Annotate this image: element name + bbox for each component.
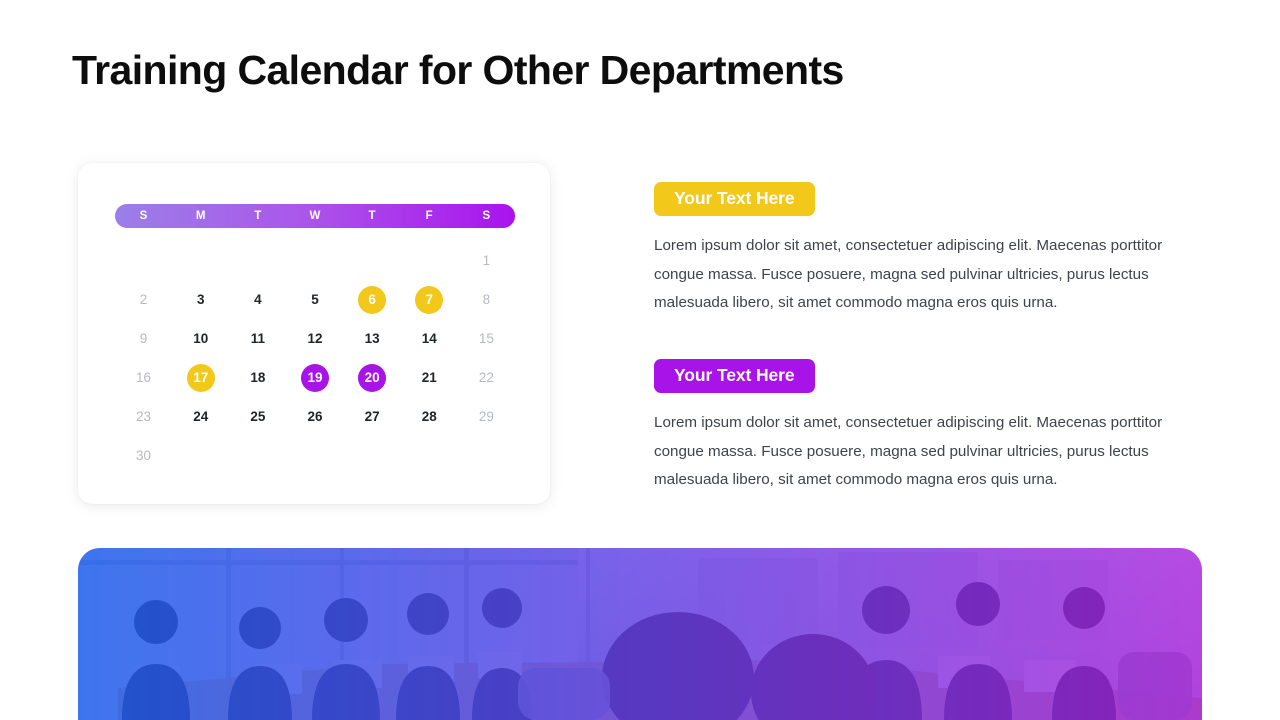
- calendar-day-number: 29: [472, 403, 500, 431]
- calendar-day-1[interactable]: 1: [458, 241, 515, 280]
- calendar-day-number: 2: [130, 286, 158, 314]
- calendar-day-number: 6: [358, 286, 386, 314]
- calendar-day-19[interactable]: 19: [286, 358, 343, 397]
- calendar-day-blank: [344, 241, 401, 280]
- calendar-day-number: 10: [187, 325, 215, 353]
- text-badge-2[interactable]: Your Text Here: [654, 359, 815, 393]
- photo-gradient-overlay: [78, 548, 1202, 720]
- calendar-weekday-0: S: [115, 204, 172, 228]
- calendar-day-number: 1: [472, 247, 500, 275]
- calendar-day-28[interactable]: 28: [401, 397, 458, 436]
- calendar-weekday-4: T: [344, 204, 401, 228]
- calendar-day-13[interactable]: 13: [344, 319, 401, 358]
- calendar-day-23[interactable]: 23: [115, 397, 172, 436]
- text-block-2: Your Text HereLorem ipsum dolor sit amet…: [654, 359, 1194, 495]
- calendar-day-number: 9: [130, 325, 158, 353]
- calendar-day-2[interactable]: 2: [115, 280, 172, 319]
- calendar-day-15[interactable]: 15: [458, 319, 515, 358]
- calendar-day-26[interactable]: 26: [286, 397, 343, 436]
- calendar-day-7[interactable]: 7: [401, 280, 458, 319]
- team-photo-band: [78, 548, 1202, 720]
- calendar-day-11[interactable]: 11: [229, 319, 286, 358]
- calendar-day-blank: [115, 241, 172, 280]
- calendar-day-number: 3: [187, 286, 215, 314]
- calendar-day-14[interactable]: 14: [401, 319, 458, 358]
- calendar-day-number: 24: [187, 403, 215, 431]
- calendar-day-8[interactable]: 8: [458, 280, 515, 319]
- calendar-inner: SMTWTFS 12345678910111213141516171819202…: [115, 204, 515, 475]
- calendar-day-number: 28: [415, 403, 443, 431]
- calendar-day-30[interactable]: 30: [115, 436, 172, 475]
- body-paragraph-2: Lorem ipsum dolor sit amet, consectetuer…: [654, 409, 1189, 495]
- calendar-day-number: 11: [244, 325, 272, 353]
- calendar-day-number: 16: [130, 364, 158, 392]
- calendar-day-12[interactable]: 12: [286, 319, 343, 358]
- calendar-day-number: 15: [472, 325, 500, 353]
- calendar-day-number: 13: [358, 325, 386, 353]
- calendar-day-10[interactable]: 10: [172, 319, 229, 358]
- calendar-day-number: 18: [244, 364, 272, 392]
- text-block-1: Your Text HereLorem ipsum dolor sit amet…: [654, 182, 1194, 318]
- calendar-weekday-5: F: [401, 204, 458, 228]
- calendar-day-number: 26: [301, 403, 329, 431]
- calendar-day-4[interactable]: 4: [229, 280, 286, 319]
- calendar-day-number: 27: [358, 403, 386, 431]
- calendar-day-number: 23: [130, 403, 158, 431]
- calendar-weekday-3: W: [286, 204, 343, 228]
- calendar-card: SMTWTFS 12345678910111213141516171819202…: [78, 163, 550, 504]
- calendar-day-number: 19: [301, 364, 329, 392]
- calendar-day-number: 30: [130, 442, 158, 470]
- calendar-day-27[interactable]: 27: [344, 397, 401, 436]
- content-column: Your Text HereLorem ipsum dolor sit amet…: [654, 182, 1194, 495]
- text-badge-1[interactable]: Your Text Here: [654, 182, 815, 216]
- calendar-weekday-header: SMTWTFS: [115, 204, 515, 228]
- calendar-day-21[interactable]: 21: [401, 358, 458, 397]
- calendar-weekday-2: T: [229, 204, 286, 228]
- calendar-weekday-6: S: [458, 204, 515, 228]
- calendar-weekday-1: M: [172, 204, 229, 228]
- calendar-day-blank: [401, 241, 458, 280]
- calendar-day-number: 12: [301, 325, 329, 353]
- calendar-day-number: 17: [187, 364, 215, 392]
- calendar-day-number: 21: [415, 364, 443, 392]
- calendar-day-blank: [229, 241, 286, 280]
- calendar-day-5[interactable]: 5: [286, 280, 343, 319]
- calendar-day-6[interactable]: 6: [344, 280, 401, 319]
- calendar-day-18[interactable]: 18: [229, 358, 286, 397]
- calendar-day-blank: [172, 241, 229, 280]
- body-paragraph-1: Lorem ipsum dolor sit amet, consectetuer…: [654, 232, 1189, 318]
- calendar-day-number: 5: [301, 286, 329, 314]
- calendar-day-25[interactable]: 25: [229, 397, 286, 436]
- calendar-day-20[interactable]: 20: [344, 358, 401, 397]
- calendar-day-9[interactable]: 9: [115, 319, 172, 358]
- calendar-day-number: 25: [244, 403, 272, 431]
- calendar-day-29[interactable]: 29: [458, 397, 515, 436]
- calendar-day-number: 20: [358, 364, 386, 392]
- calendar-day-22[interactable]: 22: [458, 358, 515, 397]
- calendar-day-number: 8: [472, 286, 500, 314]
- calendar-day-number: 22: [472, 364, 500, 392]
- calendar-day-number: 4: [244, 286, 272, 314]
- calendar-day-17[interactable]: 17: [172, 358, 229, 397]
- calendar-day-3[interactable]: 3: [172, 280, 229, 319]
- calendar-day-24[interactable]: 24: [172, 397, 229, 436]
- calendar-days-grid: 1234567891011121314151617181920212223242…: [115, 241, 515, 475]
- page-title: Training Calendar for Other Departments: [72, 46, 844, 95]
- calendar-day-16[interactable]: 16: [115, 358, 172, 397]
- calendar-day-number: 7: [415, 286, 443, 314]
- calendar-day-blank: [286, 241, 343, 280]
- calendar-day-number: 14: [415, 325, 443, 353]
